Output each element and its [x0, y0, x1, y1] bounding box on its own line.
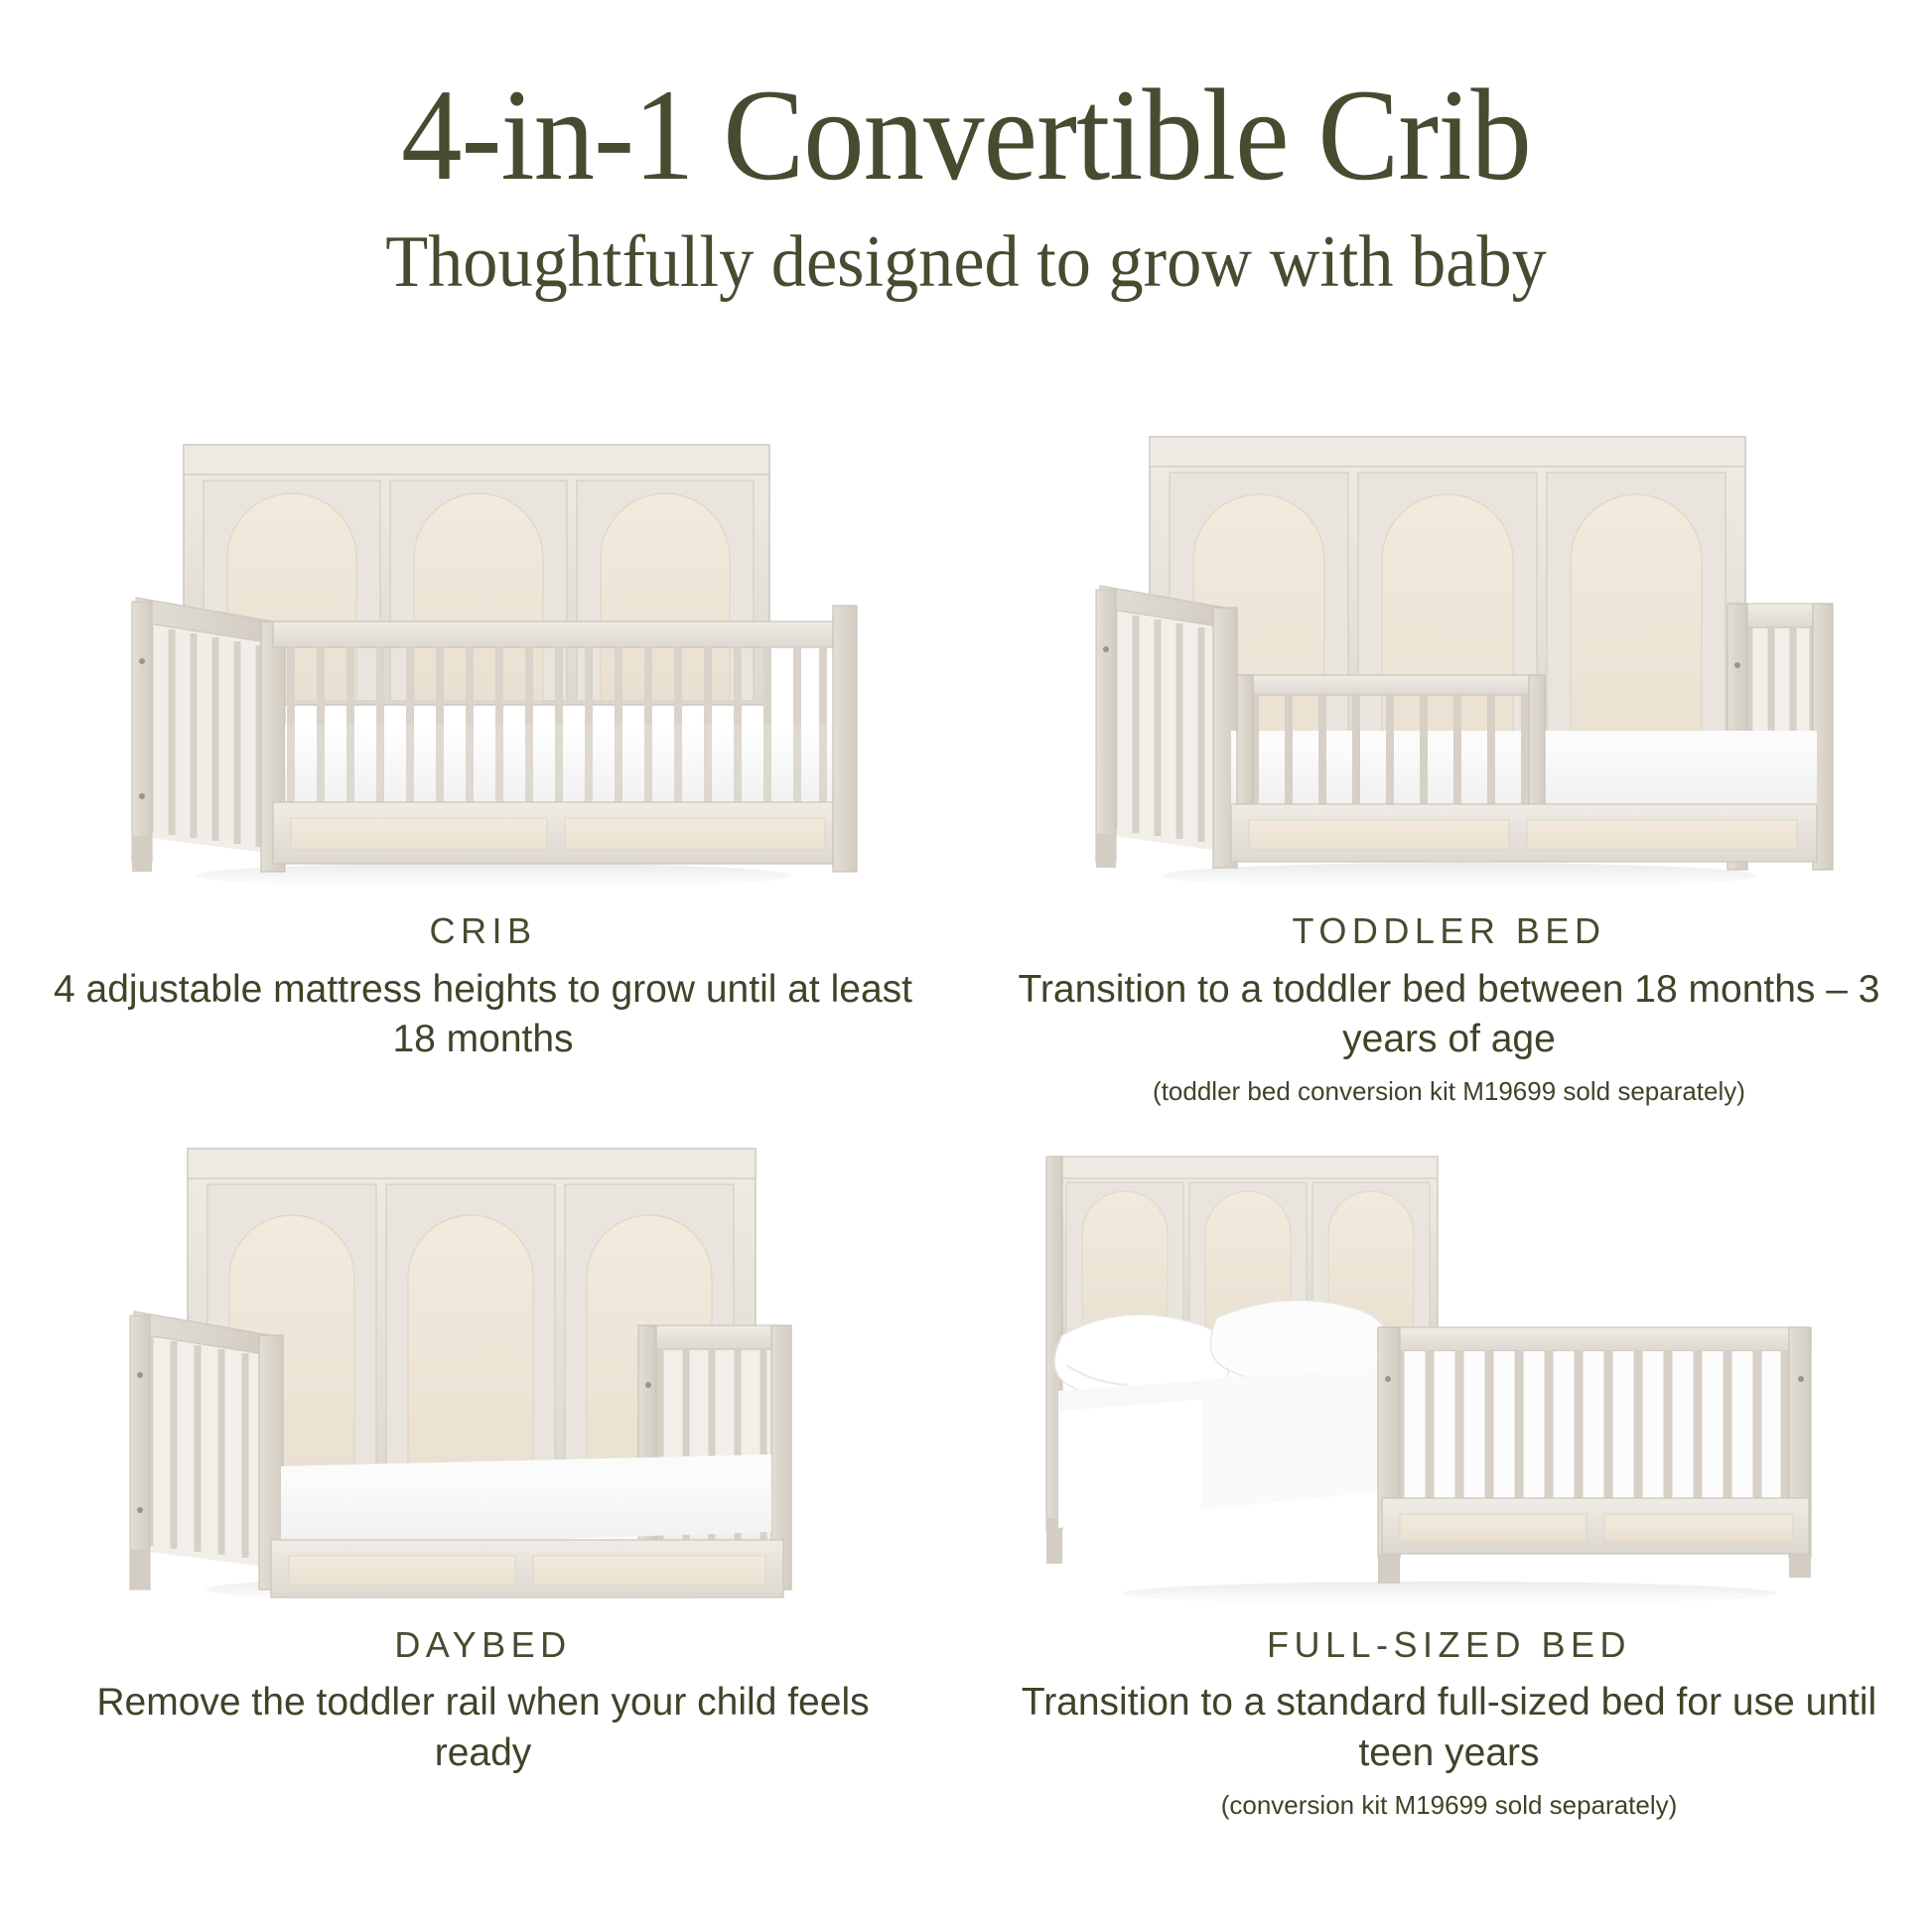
panel-full-sized-bed: FULL-SIZED BED Transition to a standard … — [966, 1131, 1932, 1823]
full-bed-illustration — [1023, 1131, 1876, 1607]
full-bed-svg — [1023, 1131, 1876, 1607]
page-subtitle: Thoughtfully designed to grow with baby — [49, 224, 1884, 302]
panel-crib: CRIB 4 adjustable mattress heights to gr… — [0, 427, 966, 1109]
crib-body: 4 adjustable mattress heights to grow un… — [47, 965, 920, 1065]
infographic-page: 4-in-1 Convertible Crib Thoughtfully des… — [0, 0, 1932, 1932]
full-bed-body: Transition to a standard full-sized bed … — [1013, 1678, 1886, 1778]
conversion-grid: CRIB 4 adjustable mattress heights to gr… — [0, 427, 1932, 1823]
caption-crib: CRIB 4 adjustable mattress heights to gr… — [47, 911, 920, 1065]
daybed-left-side — [130, 1311, 283, 1589]
header: 4-in-1 Convertible Crib Thoughtfully des… — [0, 69, 1932, 302]
toddler-bed-label: TODDLER BED — [1013, 911, 1886, 951]
caption-toddler-bed: TODDLER BED Transition to a toddler bed … — [1013, 911, 1886, 1109]
daybed-illustration — [57, 1131, 910, 1607]
toddler-bed-illustration — [1023, 427, 1876, 894]
daybed-mattress — [281, 1454, 771, 1548]
panel-toddler-bed: TODDLER BED Transition to a toddler bed … — [966, 427, 1932, 1109]
crib-left-side — [132, 598, 285, 872]
crib-illustration — [57, 427, 910, 894]
full-bed-note: (conversion kit M19699 sold separately) — [1013, 1789, 1886, 1823]
panel-daybed: DAYBED Remove the toddler rail when your… — [0, 1131, 966, 1823]
full-bed-label: FULL-SIZED BED — [1013, 1625, 1886, 1665]
daybed-body: Remove the toddler rail when your child … — [47, 1678, 920, 1778]
crib-svg — [76, 427, 891, 894]
toddler-bed-note: (toddler bed conversion kit M19699 sold … — [1013, 1075, 1886, 1109]
caption-daybed: DAYBED Remove the toddler rail when your… — [47, 1625, 920, 1779]
crib-label: CRIB — [47, 911, 920, 951]
full-bed-footboard — [1378, 1327, 1811, 1584]
page-title: 4-in-1 Convertible Crib — [68, 69, 1864, 201]
daybed-svg — [76, 1131, 891, 1607]
toddler-bed-body: Transition to a toddler bed between 18 m… — [1013, 965, 1886, 1065]
toddler-left-side — [1096, 586, 1237, 868]
toddler-bed-svg — [1042, 427, 1857, 894]
grid-row-1: CRIB 4 adjustable mattress heights to gr… — [0, 427, 1932, 1109]
full-bed-mattress — [1058, 1367, 1392, 1528]
daybed-label: DAYBED — [47, 1625, 920, 1665]
caption-full-sized-bed: FULL-SIZED BED Transition to a standard … — [1013, 1625, 1886, 1823]
grid-row-2: DAYBED Remove the toddler rail when your… — [0, 1131, 1932, 1823]
